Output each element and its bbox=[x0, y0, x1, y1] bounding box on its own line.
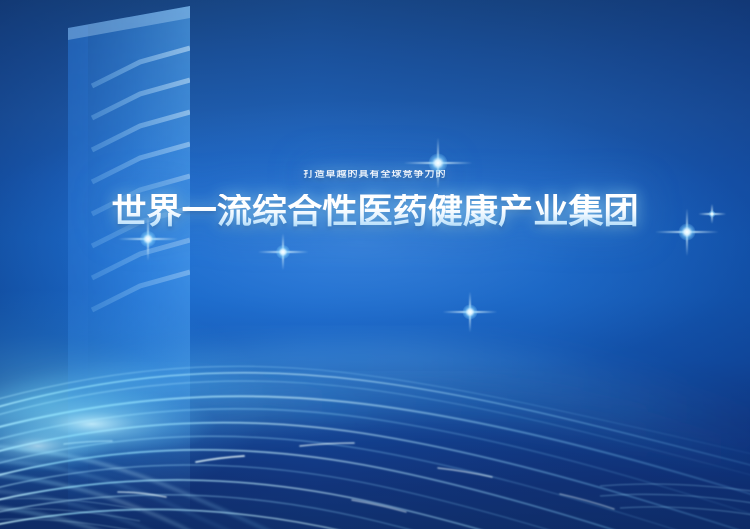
left-wave-glow bbox=[0, 0, 750, 529]
headline-backglow bbox=[0, 0, 750, 529]
sparkle-core bbox=[276, 245, 290, 259]
sparkle-over-liu-icon bbox=[272, 241, 294, 263]
sparkle-horizontal-ray bbox=[404, 162, 473, 164]
sparkle-horizontal-ray bbox=[258, 251, 309, 253]
building-silhouette bbox=[0, 0, 190, 529]
sparkle-core bbox=[463, 305, 478, 320]
sparkle-under-jian-icon bbox=[458, 300, 482, 324]
sparkle-vertical-ray bbox=[469, 292, 471, 333]
headline-block: 打造卓越的具有全球竞争力的 世界一流综合性医药健康产业集团 bbox=[0, 170, 750, 229]
background-gradient bbox=[0, 0, 750, 529]
sparkle-layer bbox=[0, 0, 750, 529]
sparkle-horizontal-ray bbox=[442, 311, 497, 313]
flowing-wave-lines bbox=[0, 0, 750, 529]
headline-line-2: 世界一流综合性医药健康产业集团 bbox=[0, 194, 750, 229]
background-soft-wave-bands bbox=[0, 0, 750, 529]
sparkle-vertical-ray bbox=[282, 233, 284, 270]
sparkle-horizontal-ray bbox=[655, 231, 719, 233]
background-horizontal-shade bbox=[0, 0, 750, 529]
banner-image: 打造卓越的具有全球竞争力的 世界一流综合性医药健康产业集团 bbox=[0, 0, 750, 529]
sparkle-core bbox=[140, 231, 156, 247]
headline-line-1: 打造卓越的具有全球竞争力的 bbox=[0, 170, 750, 180]
sparkle-horizontal-ray bbox=[118, 238, 178, 240]
vignette-overlay bbox=[0, 0, 750, 529]
